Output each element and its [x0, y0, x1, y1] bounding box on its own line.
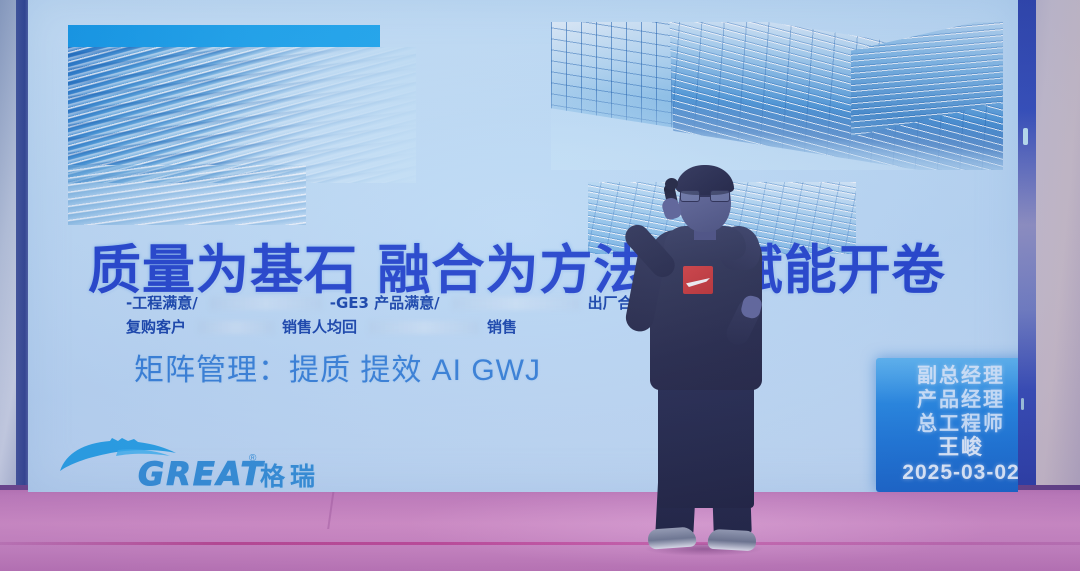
building-fade-left [68, 47, 416, 183]
glasses-lens-right [710, 190, 730, 202]
glasses-lens-left [680, 190, 700, 202]
redaction-bar [369, 321, 479, 334]
redaction-bar [210, 297, 322, 310]
redaction-bar [452, 297, 580, 310]
glasses-bridge [700, 195, 710, 197]
redaction-bar [198, 321, 274, 334]
slide: 质量为基石 融合为方法 AI赋能开卷 -工程满意/ -GE3 产品满意/ 出厂合… [28, 0, 1018, 492]
metric-label-repeat-customer: 复购客户 [126, 316, 186, 338]
brand-logo: GREAT ® 格瑞特 [56, 437, 346, 489]
stage-floor [0, 485, 1080, 571]
accent-bar [68, 25, 380, 47]
wall-marker-lower [1021, 398, 1024, 410]
presentation-screen: 质量为基石 融合为方法 AI赋能开卷 -工程满意/ -GE3 产品满意/ 出厂合… [28, 0, 1018, 492]
logo-registered-icon: ® [249, 453, 256, 464]
speaker-glasses-icon [680, 190, 730, 202]
metric-label-engineering-satisfaction: -工程满意/ [126, 292, 198, 314]
building-fade-top [551, 22, 1003, 170]
metric-label-ge3-product-satisfaction: -GE3 产品满意/ [330, 292, 440, 314]
building-tail-left [68, 165, 306, 225]
card-speaker-name: 王峻 [876, 436, 1018, 460]
hoodie-chest-logo-icon [683, 266, 713, 294]
image-skyscraper-left [68, 25, 416, 183]
card-date: 2025-03-02 [876, 461, 1018, 485]
logo-chinese-text: 格瑞特 [260, 457, 346, 492]
card-title-1: 副总经理 [876, 364, 1018, 388]
wall-marker-upper [1023, 128, 1028, 145]
speaker-name-card: 副总经理 产品经理 总工程师 王峻 2025-03-02 [876, 358, 1018, 492]
card-title-2: 产品经理 [876, 388, 1018, 412]
floor-spotlight [0, 485, 1080, 571]
logo-latin-text: GREAT [138, 455, 264, 492]
metric-label-sales: 销售 [487, 316, 517, 338]
speaker-shoe-right [708, 529, 757, 551]
metric-label-sales-per-capita: 销售人均回 [282, 316, 357, 338]
slide-subline: 矩阵管理：提质 提效 AI GWJ [134, 345, 541, 389]
stage-scene: 质量为基石 融合为方法 AI赋能开卷 -工程满意/ -GE3 产品满意/ 出厂合… [0, 0, 1080, 571]
image-skyscraper-top-right [551, 22, 1003, 170]
card-title-3: 总工程师 [876, 412, 1018, 436]
speaker-pants [658, 380, 754, 508]
speaker-shoe-left [647, 526, 696, 549]
